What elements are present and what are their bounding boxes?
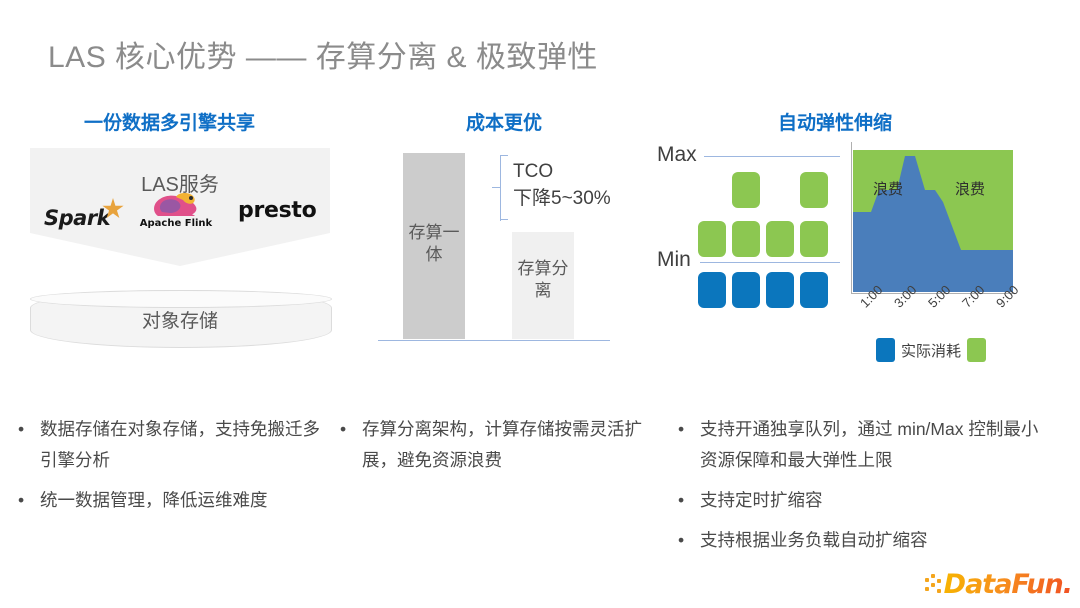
- max-axis-label: Max: [657, 143, 697, 167]
- list-item-text: 存算分离架构，计算存储按需灵活扩展，避免资源浪费: [362, 414, 658, 476]
- resource-unit-blue: [766, 272, 794, 308]
- chart-y-axis: [851, 142, 852, 294]
- resource-unit-green: [732, 221, 760, 257]
- datafun-dots-icon: [925, 574, 943, 596]
- resource-unit-green: [766, 221, 794, 257]
- resource-unit-blue: [732, 272, 760, 308]
- legend-swatch-actual-usage: [876, 338, 895, 362]
- bullet-marker: •: [18, 485, 40, 516]
- waste-label-right: 浪费: [955, 178, 985, 199]
- min-threshold-line: [700, 262, 840, 263]
- list-item: • 支持定时扩缩容: [678, 485, 1050, 516]
- datafun-logo: DataFun.: [925, 569, 1072, 600]
- bullet-marker: •: [340, 414, 362, 476]
- legend-swatch-waste: [967, 338, 986, 362]
- list-item-text: 支持定时扩缩容: [700, 485, 1050, 516]
- usage-area-chart: [853, 150, 1013, 292]
- legend-label-actual-usage: 实际消耗: [901, 340, 961, 361]
- resource-unit-green: [732, 172, 760, 208]
- list-item-text: 数据存储在对象存储，支持免搬迁多引擎分析: [40, 414, 336, 476]
- bullet-list-sharing: • 数据存储在对象存储，支持免搬迁多引擎分析 • 统一数据管理，降低运维难度: [18, 414, 336, 525]
- waste-label-left: 浪费: [873, 178, 903, 199]
- min-axis-label: Min: [657, 248, 691, 272]
- bullet-marker: •: [678, 485, 700, 516]
- list-item: • 统一数据管理，降低运维难度: [18, 485, 336, 516]
- list-item: • 支持开通独享队列，通过 min/Max 控制最小资源保障和最大弹性上限: [678, 414, 1050, 476]
- resource-unit-green: [698, 221, 726, 257]
- bullet-marker: •: [18, 414, 40, 476]
- list-item: • 支持根据业务负载自动扩缩容: [678, 525, 1050, 556]
- resource-unit-blue: [800, 272, 828, 308]
- datafun-wordmark: DataFun.: [944, 569, 1072, 600]
- resource-unit-blue: [698, 272, 726, 308]
- chart-legend: 实际消耗: [876, 338, 986, 362]
- list-item: • 数据存储在对象存储，支持免搬迁多引擎分析: [18, 414, 336, 476]
- list-item-text: 统一数据管理，降低运维难度: [40, 485, 336, 516]
- list-item-text: 支持根据业务负载自动扩缩容: [700, 525, 1050, 556]
- list-item: • 存算分离架构，计算存储按需灵活扩展，避免资源浪费: [340, 414, 658, 476]
- diagram-auto-scaling: Max Min 浪费 浪费 1:00 3:00 5:00 7:00 9:00 实…: [0, 0, 1080, 380]
- bullet-list-elastic: • 支持开通独享队列，通过 min/Max 控制最小资源保障和最大弹性上限 • …: [678, 414, 1050, 565]
- bullet-list-cost: • 存算分离架构，计算存储按需灵活扩展，避免资源浪费: [340, 414, 658, 485]
- bullet-marker: •: [678, 525, 700, 556]
- bullet-marker: •: [678, 414, 700, 476]
- list-item-text: 支持开通独享队列，通过 min/Max 控制最小资源保障和最大弹性上限: [700, 414, 1050, 476]
- resource-unit-green: [800, 221, 828, 257]
- resource-unit-green: [800, 172, 828, 208]
- max-threshold-line: [704, 156, 840, 157]
